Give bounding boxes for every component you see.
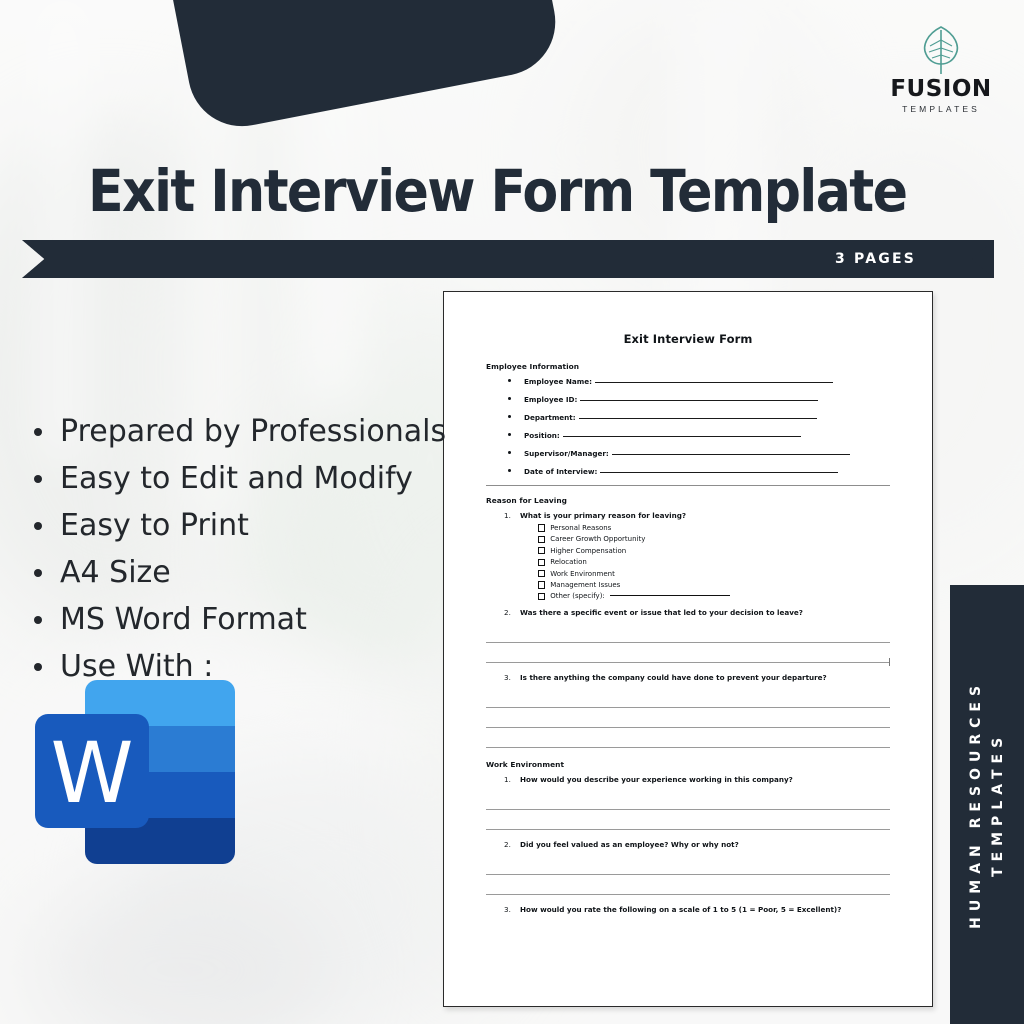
checkbox-label: Higher Compensation bbox=[550, 547, 626, 555]
answer-line[interactable] bbox=[486, 708, 890, 728]
field-label: Department: bbox=[524, 413, 576, 422]
checkbox-icon[interactable] bbox=[538, 581, 545, 588]
checkbox-option-other[interactable]: Other (specify): bbox=[538, 592, 890, 600]
checkbox-label: Relocation bbox=[550, 558, 587, 566]
category-side-tab: HUMAN RESOURCES TEMPLATES bbox=[950, 585, 1024, 1024]
document-content: Exit Interview Form Employee Information… bbox=[444, 292, 932, 914]
question-number: 2. bbox=[504, 608, 520, 617]
field-label: Employee Name: bbox=[524, 377, 592, 386]
question-row: 2. Was there a specific event or issue t… bbox=[504, 608, 890, 617]
list-item: Easy to Print bbox=[34, 506, 446, 545]
answer-line[interactable] bbox=[486, 623, 890, 643]
other-blank-line[interactable] bbox=[610, 595, 730, 596]
bullet-icon bbox=[508, 433, 511, 436]
form-field-row: Department: bbox=[508, 413, 890, 422]
form-field-row: Employee Name: bbox=[508, 377, 890, 386]
field-blank-line[interactable] bbox=[600, 471, 838, 473]
checkbox-option[interactable]: Relocation bbox=[538, 558, 890, 566]
bullet-icon bbox=[34, 428, 42, 436]
section-heading-employee-information: Employee Information bbox=[486, 362, 890, 371]
category-line-1: HUMAN RESOURCES bbox=[968, 680, 984, 929]
reason-for-leaving-questions: 1. What is your primary reason for leavi… bbox=[504, 511, 890, 617]
page-count-ribbon: 3 PAGES bbox=[22, 240, 994, 278]
field-blank-line[interactable] bbox=[595, 381, 833, 383]
brand-logo: FUSION TEMPLATES bbox=[880, 24, 1002, 114]
checkbox-label: Other (specify): bbox=[550, 592, 605, 600]
checkbox-label: Work Environment bbox=[550, 570, 615, 578]
form-field-row: Position: bbox=[508, 431, 890, 440]
checkbox-icon[interactable] bbox=[538, 570, 545, 577]
section-heading-reason-for-leaving: Reason for Leaving bbox=[486, 496, 890, 505]
field-blank-line[interactable] bbox=[563, 435, 801, 437]
document-preview[interactable]: Exit Interview Form Employee Information… bbox=[443, 291, 933, 1007]
bullet-icon bbox=[34, 663, 42, 671]
bullet-icon bbox=[34, 616, 42, 624]
question-text: Was there a specific event or issue that… bbox=[520, 608, 803, 617]
question-text: What is your primary reason for leaving? bbox=[520, 511, 686, 520]
answer-lines bbox=[486, 855, 890, 895]
answer-line[interactable] bbox=[486, 875, 890, 895]
list-item: MS Word Format bbox=[34, 600, 446, 639]
work-environment-question-1: 1. How would you describe your experienc… bbox=[504, 775, 890, 784]
answer-lines bbox=[486, 790, 890, 830]
field-blank-line[interactable] bbox=[579, 417, 817, 419]
question-number: 3. bbox=[504, 673, 520, 682]
document-title: Exit Interview Form bbox=[486, 332, 890, 346]
question-text: How would you rate the following on a sc… bbox=[520, 905, 841, 914]
feature-label: Prepared by Professionals bbox=[60, 417, 446, 447]
question-text: Did you feel valued as an employee? Why … bbox=[520, 840, 739, 849]
answer-lines bbox=[486, 688, 890, 748]
field-blank-line[interactable] bbox=[580, 399, 818, 401]
checkbox-option[interactable]: Management Issues bbox=[538, 581, 890, 589]
question-number: 3. bbox=[504, 905, 520, 914]
field-label: Date of Interview: bbox=[524, 467, 597, 476]
category-side-tab-text: HUMAN RESOURCES TEMPLATES bbox=[965, 680, 1010, 929]
question-text: How would you describe your experience w… bbox=[520, 775, 793, 784]
form-field-row: Employee ID: bbox=[508, 395, 890, 404]
bullet-icon bbox=[34, 569, 42, 577]
feature-label: A4 Size bbox=[60, 558, 171, 588]
checkbox-option[interactable]: Career Growth Opportunity bbox=[538, 535, 890, 543]
checkbox-icon[interactable] bbox=[538, 536, 545, 543]
microsoft-word-icon: W bbox=[33, 678, 237, 866]
feature-list: Prepared by Professionals Easy to Edit a… bbox=[34, 412, 446, 694]
page-title: Exit Interview Form Template bbox=[88, 161, 844, 222]
checkbox-option[interactable]: Higher Compensation bbox=[538, 547, 890, 555]
checkbox-label: Career Growth Opportunity bbox=[550, 535, 645, 543]
poster-canvas: FUSION TEMPLATES Exit Interview Form Tem… bbox=[0, 0, 1024, 1024]
field-label: Supervisor/Manager: bbox=[524, 449, 609, 458]
bullet-icon bbox=[508, 469, 511, 472]
page-count-label: 3 PAGES bbox=[835, 251, 916, 267]
form-field-row: Supervisor/Manager: bbox=[508, 449, 890, 458]
question-number: 1. bbox=[504, 775, 520, 784]
question-number: 1. bbox=[504, 511, 520, 520]
checkbox-label: Personal Reasons bbox=[550, 524, 611, 532]
leaf-icon bbox=[918, 24, 964, 76]
question-row: 2. Did you feel valued as an employee? W… bbox=[504, 840, 890, 849]
checkbox-icon[interactable] bbox=[538, 524, 545, 531]
form-field-row: Date of Interview: bbox=[508, 467, 890, 476]
checkbox-icon[interactable] bbox=[538, 547, 545, 554]
question-text: Is there anything the company could have… bbox=[520, 673, 827, 682]
question-row: 3. Is there anything the company could h… bbox=[504, 673, 890, 682]
answer-line[interactable] bbox=[486, 728, 890, 748]
list-item: Easy to Edit and Modify bbox=[34, 459, 446, 498]
reason-question-3: 3. Is there anything the company could h… bbox=[504, 673, 890, 682]
bullet-icon bbox=[508, 379, 511, 382]
bullet-icon bbox=[508, 415, 511, 418]
answer-line[interactable] bbox=[486, 688, 890, 708]
checkbox-icon[interactable] bbox=[538, 593, 545, 600]
field-label: Employee ID: bbox=[524, 395, 577, 404]
category-line-2: TEMPLATES bbox=[987, 680, 1009, 929]
feature-label: Easy to Edit and Modify bbox=[60, 464, 413, 494]
answer-line[interactable] bbox=[486, 790, 890, 810]
brand-name: FUSION bbox=[880, 78, 1002, 101]
bullet-icon bbox=[508, 397, 511, 400]
feature-label: MS Word Format bbox=[60, 605, 307, 635]
word-letter: W bbox=[50, 724, 133, 822]
question-row: 1. How would you describe your experienc… bbox=[504, 775, 890, 784]
brand-subtitle: TEMPLATES bbox=[880, 105, 1002, 114]
employee-information-fields: Employee Name: Employee ID: Department: … bbox=[508, 377, 890, 476]
feature-label: Use With : bbox=[60, 652, 213, 682]
bullet-icon bbox=[34, 475, 42, 483]
field-blank-line[interactable] bbox=[612, 453, 850, 455]
list-item: Prepared by Professionals bbox=[34, 412, 446, 451]
checkbox-option[interactable]: Work Environment bbox=[538, 570, 890, 578]
answer-line[interactable] bbox=[486, 643, 890, 663]
field-label: Position: bbox=[524, 431, 560, 440]
question-row: 1. What is your primary reason for leavi… bbox=[504, 511, 890, 600]
feature-label: Easy to Print bbox=[60, 511, 249, 541]
question-number: 2. bbox=[504, 840, 520, 849]
bullet-icon bbox=[34, 522, 42, 530]
answer-lines bbox=[486, 623, 890, 663]
answer-line[interactable] bbox=[486, 810, 890, 830]
reason-checkbox-group: Personal Reasons Career Growth Opportuni… bbox=[538, 524, 890, 600]
question-row: 3. How would you rate the following on a… bbox=[504, 905, 890, 914]
answer-line[interactable] bbox=[486, 855, 890, 875]
ribbon-body: 3 PAGES bbox=[22, 240, 994, 278]
list-item: A4 Size bbox=[34, 553, 446, 592]
checkbox-label: Management Issues bbox=[550, 581, 620, 589]
section-divider bbox=[486, 485, 890, 486]
work-environment-question-3: 3. How would you rate the following on a… bbox=[504, 905, 890, 914]
bullet-icon bbox=[508, 451, 511, 454]
work-environment-question-2: 2. Did you feel valued as an employee? W… bbox=[504, 840, 890, 849]
checkbox-option[interactable]: Personal Reasons bbox=[538, 524, 890, 532]
checkbox-icon[interactable] bbox=[538, 559, 545, 566]
section-heading-work-environment: Work Environment bbox=[486, 760, 890, 769]
